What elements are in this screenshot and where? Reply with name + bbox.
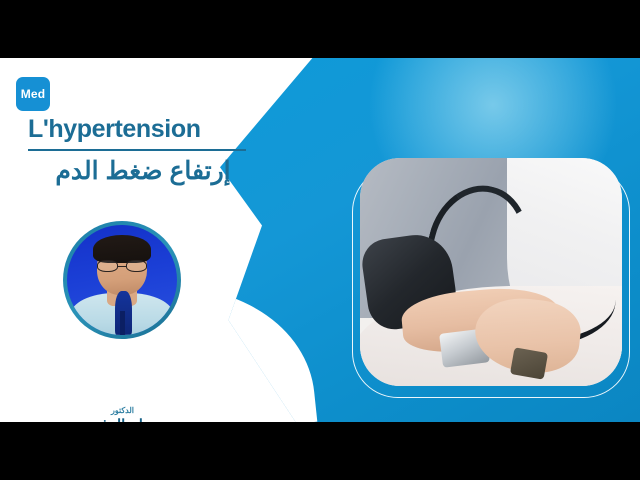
avatar-lens-left <box>97 260 118 272</box>
med-logo: Med <box>16 77 50 111</box>
avatar-hair <box>93 235 150 264</box>
avatar-glasses-bridge <box>118 266 126 268</box>
glasses-icon <box>97 260 148 272</box>
avatar <box>63 221 181 339</box>
avatar-image <box>67 225 177 335</box>
med-logo-text: Med <box>21 87 46 101</box>
avatar-lens-right <box>126 260 147 272</box>
letterbox-bottom-bar <box>0 422 640 480</box>
title-divider <box>28 149 246 151</box>
doctor-honorific: الدكتور <box>40 406 205 416</box>
avatar-mic-stem <box>120 311 124 335</box>
page-title-french: L'hypertension <box>28 116 258 142</box>
doctor-name-block: الدكتور بسام الرفيق <box>40 406 205 422</box>
title-block: L'hypertension إرتفاع ضغط الدم <box>28 116 258 188</box>
photo-wrist-watch <box>510 347 548 380</box>
video-slide-frame: Med L'hypertension إرتفاع ضغط الدم الدكت… <box>0 58 640 422</box>
letterbox-top-bar <box>0 0 640 58</box>
blood-pressure-measurement-photo <box>360 158 622 386</box>
page-title-arabic: إرتفاع ضغط الدم <box>28 155 258 188</box>
